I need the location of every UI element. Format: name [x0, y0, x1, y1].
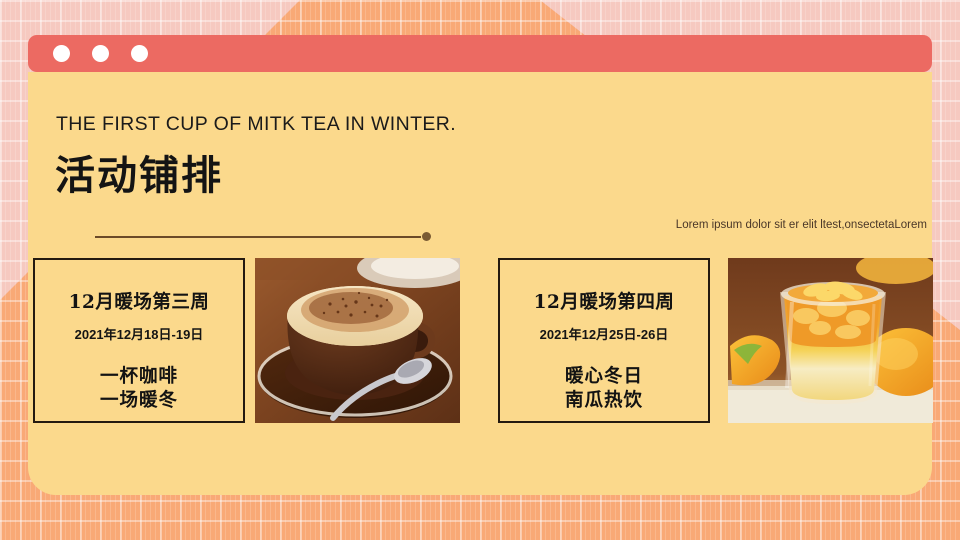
event-card-1-slogan-line2: 一场暖冬 — [100, 389, 178, 413]
lorem-caption: Lorem ipsum dolor sit er elit ltest,onse… — [676, 219, 927, 231]
event-card-2-slogan-line2: 南瓜热饮 — [565, 389, 643, 413]
event-card-2-date: 2021年12月25日-26日 — [540, 324, 669, 343]
slide-canvas: THE FIRST CUP OF MITK TEA IN WINTER. 活动铺… — [0, 0, 960, 540]
eyebrow-heading: THE FIRST CUP OF MITK TEA IN WINTER. — [56, 113, 456, 136]
event-card-1-date: 2021年12月18日-19日 — [75, 324, 204, 343]
event-card-2-photo — [728, 258, 933, 423]
decorative-rule — [95, 232, 431, 242]
window-dot-3-icon[interactable] — [131, 45, 148, 62]
event-card-2-slogan-line1: 暖心冬日 — [565, 365, 643, 389]
window-titlebar — [28, 35, 932, 72]
event-card-1[interactable]: 12月暖场第三周 2021年12月18日-19日 一杯咖啡 一场暖冬 — [33, 258, 245, 423]
event-card-2-week: 12月暖场第四周 — [534, 288, 675, 314]
event-card-2[interactable]: 12月暖场第四周 2021年12月25日-26日 暖心冬日 南瓜热饮 — [498, 258, 710, 423]
window-dot-2-icon[interactable] — [92, 45, 109, 62]
event-card-2-slogan: 暖心冬日 南瓜热饮 — [565, 365, 643, 412]
event-card-1-photo — [255, 258, 460, 423]
event-card-1-week: 12月暖场第三周 — [69, 288, 210, 314]
window-dot-1-icon[interactable] — [53, 45, 70, 62]
mango-pumpkin-drink-photo — [728, 258, 933, 423]
cappuccino-coffee-cup-photo — [255, 258, 460, 423]
event-card-1-slogan-line1: 一杯咖啡 — [100, 365, 178, 389]
rule-line — [95, 236, 421, 238]
rule-end-dot-icon — [422, 232, 431, 241]
page-title: 活动铺排 — [55, 143, 223, 201]
event-card-1-slogan: 一杯咖啡 一场暖冬 — [100, 365, 178, 412]
